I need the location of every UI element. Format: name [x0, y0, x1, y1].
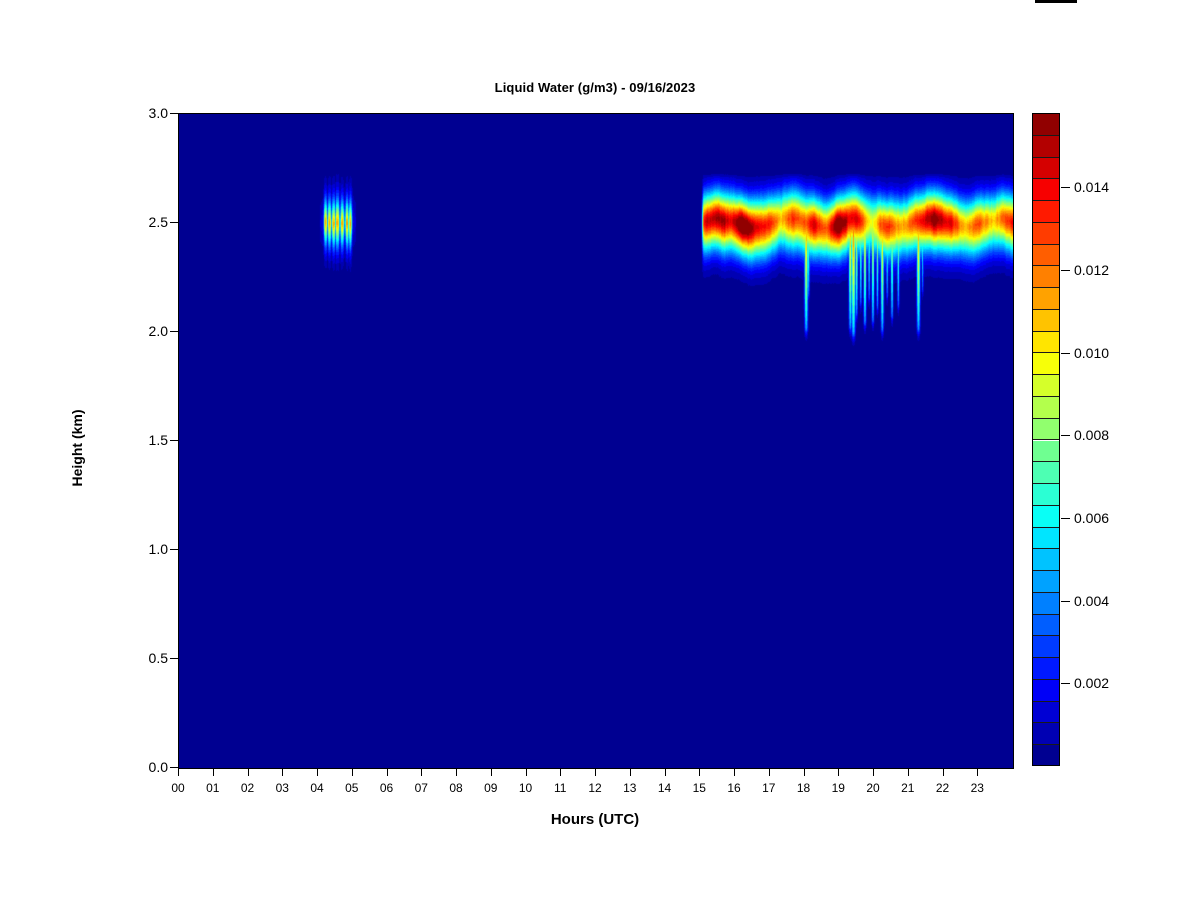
colorbar-tick-mark — [1061, 270, 1070, 271]
x-tick-mark — [769, 768, 770, 776]
x-tick-label: 21 — [893, 781, 923, 795]
y-tick-label-text: 3.0 — [108, 106, 168, 120]
y-tick-label-text: 2.0 — [108, 324, 168, 338]
colorbar-band — [1033, 223, 1059, 245]
colorbar-tick-mark — [1061, 683, 1070, 684]
colorbar-band — [1033, 201, 1059, 223]
y-tick-label: 2.0 — [100, 324, 168, 338]
x-tick-mark — [560, 768, 561, 776]
x-tick-label: 19 — [823, 781, 853, 795]
x-tick-label: 14 — [650, 781, 680, 795]
colorbar-band — [1033, 506, 1059, 528]
x-tick-label: 18 — [789, 781, 819, 795]
colorbar-tick-label: 0.008 — [1074, 428, 1144, 442]
y-tick-label-text: 0.0 — [108, 760, 168, 774]
x-tick-mark — [665, 768, 666, 776]
colorbar-band — [1033, 571, 1059, 593]
colorbar-band — [1033, 332, 1059, 354]
x-tick-mark — [734, 768, 735, 776]
y-tick-label-text: 1.5 — [108, 433, 168, 447]
x-tick-label: 02 — [233, 781, 263, 795]
x-tick-mark — [908, 768, 909, 776]
x-tick-mark — [456, 768, 457, 776]
colorbar-band — [1033, 245, 1059, 267]
x-tick-label: 00 — [163, 781, 193, 795]
x-tick-mark — [595, 768, 596, 776]
colorbar-band — [1033, 179, 1059, 201]
x-tick-label: 04 — [302, 781, 332, 795]
x-tick-mark — [387, 768, 388, 776]
y-tick-mark — [170, 658, 178, 659]
x-axis-label: Hours (UTC) — [178, 811, 1012, 828]
y-tick-mark — [170, 331, 178, 332]
x-tick-label: 13 — [615, 781, 645, 795]
x-tick-label: 09 — [476, 781, 506, 795]
colorbar-band — [1033, 441, 1059, 463]
x-tick-mark — [838, 768, 839, 776]
y-tick-label-text: 2.5 — [108, 215, 168, 229]
heatmap-plot-area — [178, 113, 1014, 769]
y-tick-label-text: 0.5 — [108, 651, 168, 665]
x-tick-mark — [873, 768, 874, 776]
x-tick-label: 08 — [441, 781, 471, 795]
colorbar-band — [1033, 462, 1059, 484]
colorbar-band — [1033, 593, 1059, 615]
colorbar-tick-mark — [1061, 601, 1070, 602]
x-tick-label: 12 — [580, 781, 610, 795]
y-tick-mark — [170, 549, 178, 550]
x-tick-label: 06 — [372, 781, 402, 795]
colorbar-band — [1033, 723, 1059, 745]
x-tick-mark — [699, 768, 700, 776]
y-tick-label: 2.5 — [100, 215, 168, 229]
colorbar-band — [1033, 288, 1059, 310]
colorbar-tick-label: 0.012 — [1074, 263, 1144, 277]
x-tick-mark — [977, 768, 978, 776]
colorbar-band — [1033, 549, 1059, 571]
colorbar-band — [1033, 310, 1059, 332]
x-tick-mark — [248, 768, 249, 776]
colorbar-band — [1033, 114, 1059, 136]
colorbar-band — [1033, 528, 1059, 550]
colorbar-tick-mark — [1061, 518, 1070, 519]
x-tick-mark — [178, 768, 179, 776]
colorbar-band — [1033, 375, 1059, 397]
colorbar-band — [1033, 636, 1059, 658]
colorbar-tick-label: 0.010 — [1074, 346, 1144, 360]
x-tick-label: 17 — [754, 781, 784, 795]
y-tick-mark — [170, 222, 178, 223]
y-tick-label: 3.0 — [100, 106, 168, 120]
colorbar-band — [1033, 158, 1059, 180]
colorbar-band — [1033, 615, 1059, 637]
y-tick-label: 1.0 — [100, 542, 168, 556]
x-tick-mark — [491, 768, 492, 776]
colorbar-tick-label: 0.002 — [1074, 676, 1144, 690]
x-tick-label: 07 — [406, 781, 436, 795]
x-tick-label: 15 — [684, 781, 714, 795]
page-title: Liquid Water (g/m3) - 09/16/2023 — [178, 80, 1012, 95]
colorbar-band — [1033, 702, 1059, 724]
x-tick-label: 03 — [267, 781, 297, 795]
x-tick-mark — [282, 768, 283, 776]
x-tick-label: 01 — [198, 781, 228, 795]
colorbar-band — [1033, 353, 1059, 375]
colorbar-tick-mark — [1061, 435, 1070, 436]
colorbar-tick-label: 0.006 — [1074, 511, 1144, 525]
colorbar-tick-mark — [1061, 353, 1070, 354]
y-tick-label-text: 1.0 — [108, 542, 168, 556]
x-tick-mark — [804, 768, 805, 776]
x-tick-label: 23 — [962, 781, 992, 795]
colorbar-band — [1033, 397, 1059, 419]
y-tick-mark — [170, 440, 178, 441]
colorbar-band — [1033, 419, 1059, 441]
y-tick-label: 1.5 — [100, 433, 168, 447]
y-tick-label: 0.0 — [100, 760, 168, 774]
x-tick-label: 05 — [337, 781, 367, 795]
colorbar — [1032, 113, 1060, 766]
x-tick-label: 10 — [511, 781, 541, 795]
top-edge-mark — [1035, 0, 1077, 3]
x-tick-mark — [943, 768, 944, 776]
y-tick-label: 0.5 — [100, 651, 168, 665]
y-tick-mark — [170, 113, 178, 114]
colorbar-tick-label: 0.004 — [1074, 594, 1144, 608]
x-tick-label: 16 — [719, 781, 749, 795]
x-tick-mark — [630, 768, 631, 776]
colorbar-band — [1033, 745, 1059, 766]
colorbar-band — [1033, 136, 1059, 158]
colorbar-tick-label: 0.014 — [1074, 180, 1144, 194]
x-tick-mark — [317, 768, 318, 776]
x-tick-mark — [352, 768, 353, 776]
x-tick-mark — [526, 768, 527, 776]
x-tick-label: 11 — [545, 781, 575, 795]
colorbar-band — [1033, 658, 1059, 680]
colorbar-band — [1033, 484, 1059, 506]
y-axis-label: Height (km) — [69, 368, 85, 528]
heatmap-canvas — [179, 114, 1013, 768]
x-tick-label: 22 — [928, 781, 958, 795]
x-tick-label: 20 — [858, 781, 888, 795]
x-tick-mark — [213, 768, 214, 776]
colorbar-band — [1033, 266, 1059, 288]
y-tick-mark — [170, 767, 178, 768]
colorbar-tick-mark — [1061, 187, 1070, 188]
x-tick-mark — [421, 768, 422, 776]
colorbar-band — [1033, 680, 1059, 702]
